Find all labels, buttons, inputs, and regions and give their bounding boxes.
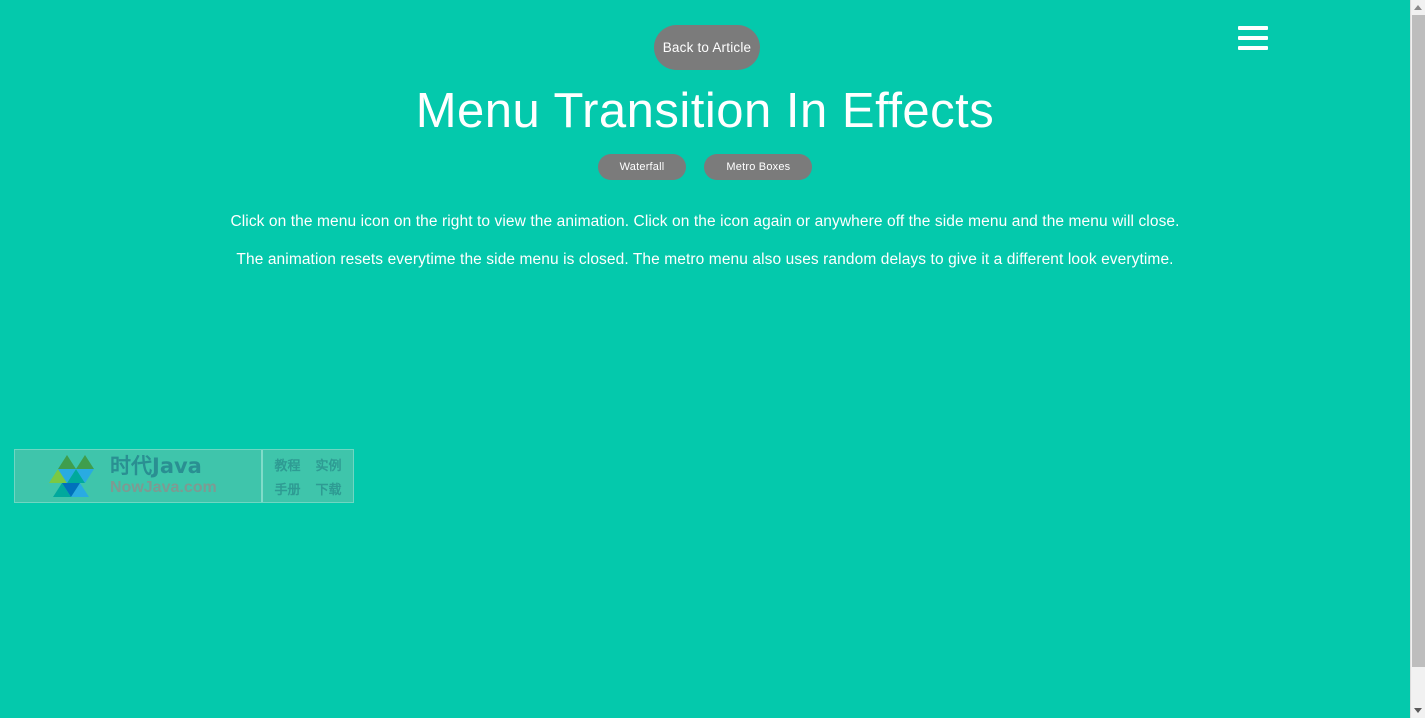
hamburger-bar-middle [1238, 36, 1268, 40]
triangle-mosaic-logo [45, 455, 101, 497]
watermark-links: 教程 实例 手册 下载 [261, 450, 353, 502]
description-block: Click on the menu icon on the right to v… [0, 210, 1410, 286]
page-canvas: Back to Article Menu Transition In Effec… [0, 0, 1410, 718]
watermark-link-manual[interactable]: 手册 [274, 479, 300, 498]
vertical-scrollbar[interactable] [1410, 0, 1425, 718]
effect-tabs: Waterfall Metro Boxes [0, 154, 1410, 180]
watermark-brand-en: NowJava.com [110, 480, 217, 496]
watermark-link-download[interactable]: 下载 [315, 479, 341, 498]
hamburger-menu-icon[interactable] [1238, 26, 1268, 50]
hamburger-bar-top [1238, 26, 1268, 30]
description-line-2: The animation resets everytime the side … [0, 248, 1410, 272]
hamburger-bar-bottom [1238, 46, 1268, 50]
watermark-text: 时代Java NowJava.com [110, 456, 217, 496]
watermark-brand: 时代Java NowJava.com [15, 450, 261, 502]
back-to-article-button[interactable]: Back to Article [654, 25, 760, 70]
watermark-link-examples[interactable]: 实例 [315, 455, 341, 474]
scroll-up-arrow-icon[interactable] [1411, 0, 1425, 15]
page-title: Menu Transition In Effects [0, 82, 1410, 140]
description-line-1: Click on the menu icon on the right to v… [0, 210, 1410, 234]
scrollbar-thumb[interactable] [1412, 15, 1425, 667]
nowjava-watermark: 时代Java NowJava.com 教程 实例 手册 下载 [14, 449, 354, 503]
watermark-brand-cn: 时代Java [110, 456, 217, 477]
watermark-link-tutorials[interactable]: 教程 [274, 455, 300, 474]
tab-waterfall[interactable]: Waterfall [598, 154, 687, 180]
scroll-down-arrow-icon[interactable] [1411, 703, 1425, 718]
tab-metro-boxes[interactable]: Metro Boxes [704, 154, 812, 180]
